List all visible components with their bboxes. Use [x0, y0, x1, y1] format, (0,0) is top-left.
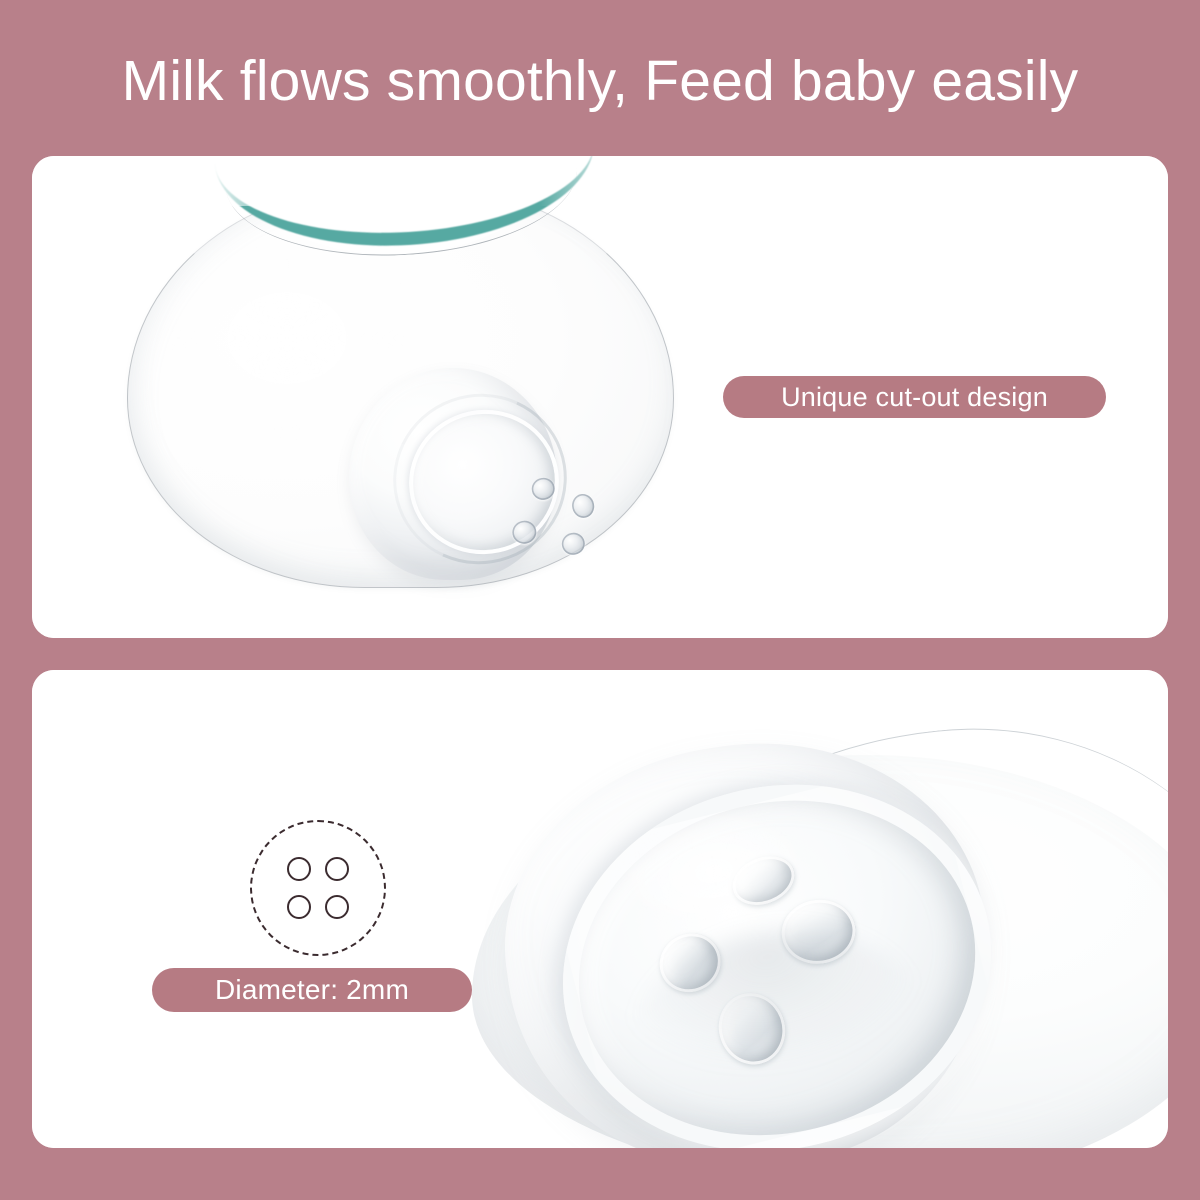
teal-accent-taper-right: [539, 156, 635, 206]
badge-diameter: Diameter: 2mm: [152, 968, 472, 1012]
page-title: Milk flows smoothly, Feed baby easily: [0, 48, 1200, 114]
nipple-shield-illustration: [87, 156, 707, 636]
diagram-hole-bottom-left: [287, 895, 311, 919]
infographic-page: Milk flows smoothly, Feed baby easily: [0, 0, 1200, 1200]
shield-teat: [349, 368, 557, 580]
hole-pattern-diagram: [250, 820, 386, 956]
diagram-hole-bottom-right: [325, 895, 349, 919]
product-photo-full-shield: Unique cut-out design: [32, 156, 1168, 638]
diagram-hole-top-right: [325, 857, 349, 881]
teal-accent-taper-left: [199, 156, 295, 206]
hole-pattern-grid: [287, 857, 349, 919]
card-hole-diameter: Diameter: 2mm: [32, 670, 1168, 1148]
card-cut-out-design: Unique cut-out design: [32, 156, 1168, 638]
product-photo-macro-teat: Diameter: 2mm: [32, 670, 1168, 1148]
milk-hole-1: [530, 476, 557, 502]
badge-unique-cut-out-design: Unique cut-out design: [723, 376, 1106, 418]
diagram-hole-top-left: [287, 857, 311, 881]
macro-teat-illustration: [432, 725, 1168, 1148]
